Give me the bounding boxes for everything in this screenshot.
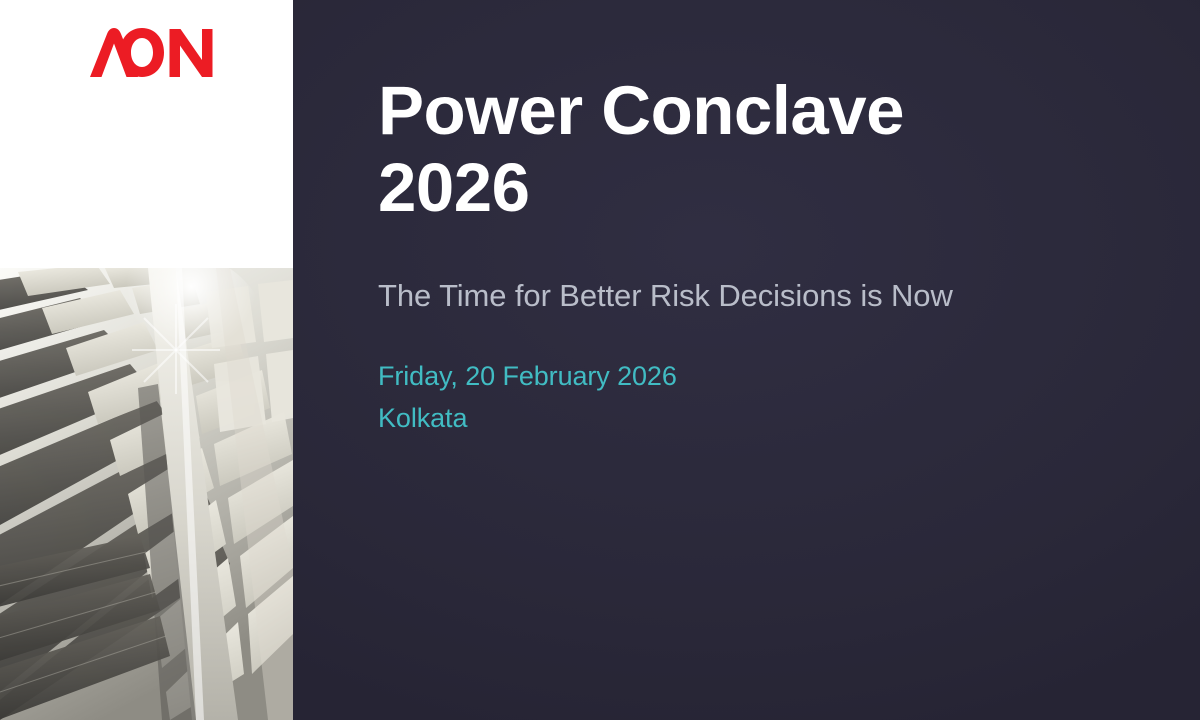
event-title-line-2: 2026 bbox=[378, 149, 530, 226]
event-banner: Power Conclave2026 The Time for Better R… bbox=[0, 0, 1200, 720]
event-tagline: The Time for Better Risk Decisions is No… bbox=[378, 277, 1168, 316]
solar-panel-photo bbox=[0, 268, 293, 720]
aon-logo bbox=[88, 27, 213, 79]
event-date: Friday, 20 February 2026 bbox=[378, 356, 978, 398]
left-column bbox=[0, 0, 293, 720]
event-meta: Friday, 20 February 2026 Kolkata bbox=[378, 356, 978, 440]
event-title: Power Conclave2026 bbox=[378, 72, 1138, 227]
event-details: Power Conclave2026 The Time for Better R… bbox=[293, 0, 1200, 720]
event-location: Kolkata bbox=[378, 398, 978, 440]
logo-panel bbox=[0, 0, 293, 268]
event-title-line-1: Power Conclave bbox=[378, 72, 904, 149]
